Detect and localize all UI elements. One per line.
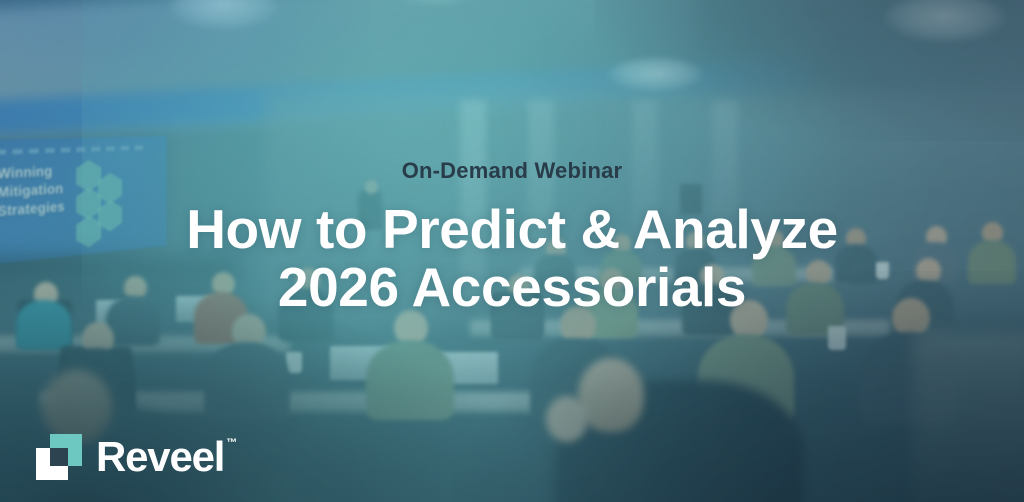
- mark-overlap-square: [50, 448, 68, 466]
- reveel-square-mark-icon: [36, 434, 82, 480]
- reveel-wordmark-text: Reveel: [96, 433, 224, 480]
- page-title: How to Predict & Analyze 2026 Accessoria…: [186, 200, 838, 317]
- webinar-banner: Winning Mitigation Strategies: [0, 0, 1024, 502]
- headline-line-2: 2026 Accessorials: [186, 258, 838, 316]
- trademark-symbol: ™: [226, 438, 237, 449]
- banner-content: On-Demand Webinar How to Predict & Analy…: [0, 0, 1024, 502]
- reveel-wordmark: Reveel ™: [96, 436, 224, 478]
- eyebrow-label: On-Demand Webinar: [402, 160, 623, 182]
- headline-line-1: How to Predict & Analyze: [186, 200, 838, 258]
- reveel-logo[interactable]: Reveel ™: [36, 434, 224, 480]
